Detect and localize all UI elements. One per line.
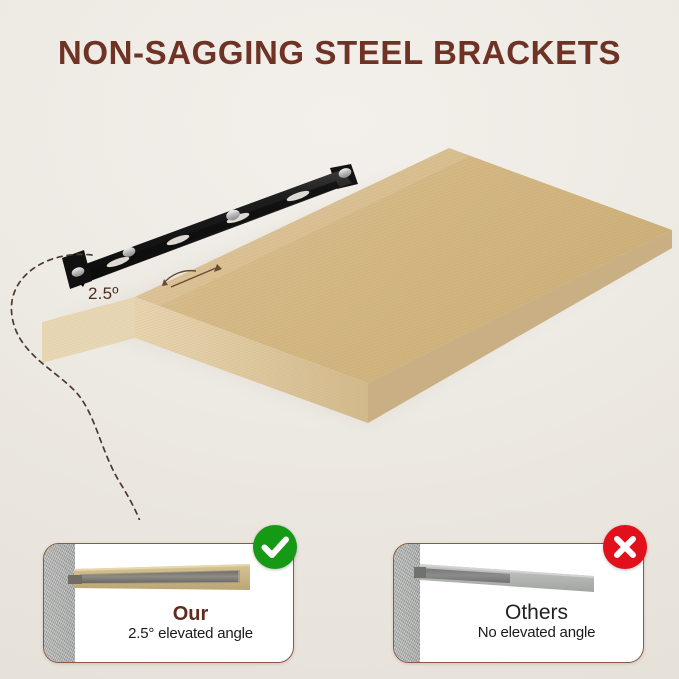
others-caption: Others No elevated angle [394,602,644,642]
angle-label: 2.5º [88,284,119,304]
our-shelf-cross-section [68,554,268,600]
floating-shelf [42,148,672,423]
product-scene: 2.5º [0,0,679,520]
shelf-illustration [0,0,679,520]
our-subtitle: 2.5° elevated angle [66,625,294,643]
our-title: Our [66,604,294,625]
others-subtitle: No elevated angle [412,624,644,642]
others-title: Others [412,602,644,624]
check-icon [253,525,297,569]
cross-icon [603,525,647,569]
infographic-canvas: NON-SAGGING STEEL BRACKETS [0,0,679,679]
our-caption: Our 2.5° elevated angle [44,604,294,643]
others-shelf-cross-section [414,552,614,602]
